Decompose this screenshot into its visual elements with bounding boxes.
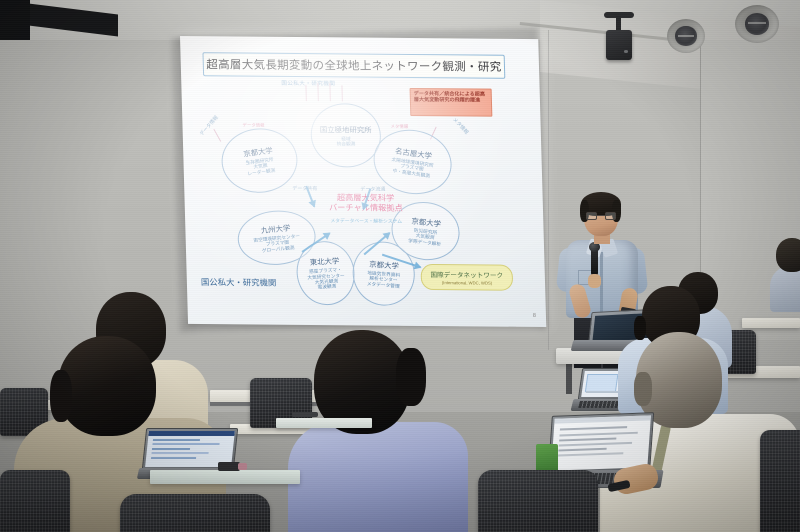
slide-canvas: 超高層大気長期変動の全球地上ネットワーク観測・研究 国公私大・研究機関 データ共… (180, 36, 546, 327)
slide-edge-label: データ共有 (292, 185, 317, 192)
slide-bottom-left-label: 国公私大・研究機関 (201, 276, 277, 289)
screenshot-root: 超高層大気長期変動の全球地上ネットワーク観測・研究 国公私大・研究機関 データ共… (0, 0, 800, 532)
audience-ear-area (634, 372, 652, 406)
chair[interactable] (0, 470, 70, 532)
pen-cap (238, 463, 247, 470)
audience-head (58, 336, 156, 436)
laptop-screen[interactable] (551, 415, 651, 470)
ceiling-speaker-led (624, 50, 628, 53)
tick-mark (213, 129, 221, 142)
audience-member-far-right (770, 238, 800, 308)
pen (218, 462, 240, 471)
chair[interactable] (120, 494, 270, 532)
audience-hair-side (50, 370, 72, 422)
tick-mark (341, 85, 342, 101)
desk (150, 470, 300, 484)
ceiling-speaker-icon (606, 30, 632, 60)
slide-node-kyoto-rish: 京都大学 生存圏研究所 大気圏 レーダー観測 (217, 124, 303, 197)
projector-mount-arm (0, 0, 30, 40)
slide-top-caption: 国公私大・研究機関 (281, 79, 335, 87)
slide-pink-label: データ情報 (242, 122, 264, 128)
chair[interactable] (478, 470, 598, 532)
microphone-icon (591, 248, 598, 276)
slide-center-sub: メタデータベース・解析システム (311, 217, 421, 225)
audience-hair-side (396, 348, 426, 406)
slide-edge-label: データ流通 (360, 185, 385, 192)
slide-edge-label: メタ情報 (451, 116, 470, 136)
air-vent-icon (667, 19, 705, 53)
slide-pink-label: メタ情報 (391, 124, 409, 130)
slide-red-callout: データ共有／統合化による超高層大気変動研究の飛躍的躍進 (410, 88, 493, 117)
audience-body (770, 266, 800, 312)
pen (292, 412, 318, 417)
audience-head (776, 238, 800, 272)
projection-screen: 超高層大気長期変動の全球地上ネットワーク観測・研究 国公私大・研究機関 データ共… (180, 36, 546, 327)
slide-title: 超高層大気長期変動の全球地上ネットワーク観測・研究 (202, 52, 505, 79)
audience-member-mid-center (288, 330, 468, 532)
eyeglasses-bridge (597, 215, 605, 216)
audience-body (288, 422, 468, 532)
desk (276, 418, 372, 428)
slide-page-number: 8 (533, 313, 536, 319)
presenter-hand (588, 274, 601, 288)
air-vent-icon (735, 5, 779, 43)
desk (742, 318, 800, 328)
chair[interactable] (760, 430, 800, 532)
slide-international-network-box: 国際データネットワーク (International, WDC, WDS) (420, 264, 513, 291)
slide-node-nipr: 国立極地研究所 極域 統合観測 (310, 103, 382, 168)
tick-mark (305, 85, 306, 101)
